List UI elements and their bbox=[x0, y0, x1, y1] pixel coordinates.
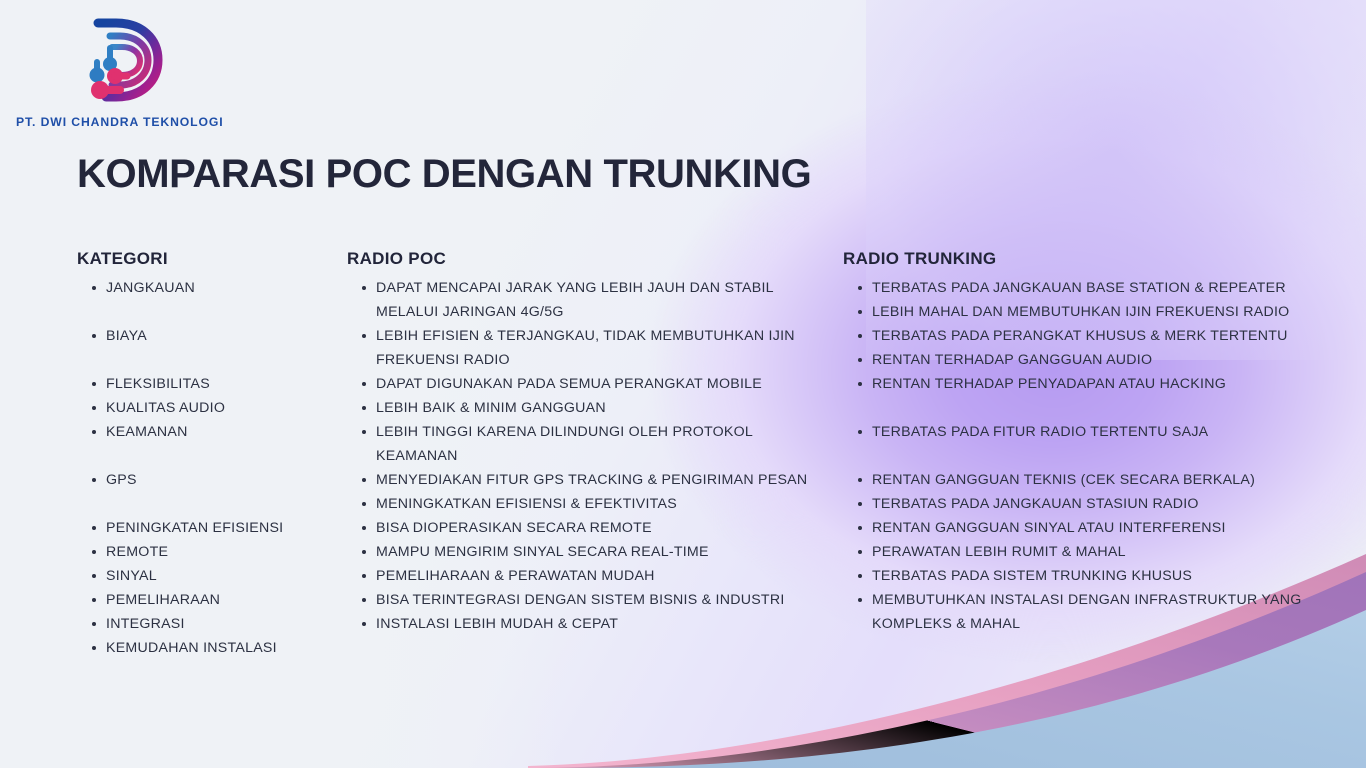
list-item: KEAMANAN bbox=[77, 420, 339, 444]
list-item: RENTAN GANGGUAN SINYAL ATAU INTERFERENSI bbox=[843, 516, 1313, 540]
list-radio-poc: DAPAT MENCAPAI JARAK YANG LEBIH JAUH DAN… bbox=[347, 276, 817, 636]
list-radio-trunking: TERBATAS PADA JANGKAUAN BASE STATION & R… bbox=[843, 276, 1313, 636]
list-item: MEMBUTUHKAN INSTALASI DENGAN INFRASTRUKT… bbox=[843, 588, 1313, 636]
list-item: GPS bbox=[77, 468, 339, 492]
list-item: DAPAT DIGUNAKAN PADA SEMUA PERANGKAT MOB… bbox=[347, 372, 817, 396]
logo-node-blue-lower bbox=[90, 68, 105, 83]
list-item: PEMELIHARAAN bbox=[77, 588, 339, 612]
list-item: MENYEDIAKAN FITUR GPS TRACKING & PENGIRI… bbox=[347, 468, 817, 492]
page-title: KOMPARASI POC DENGAN TRUNKING bbox=[77, 148, 811, 200]
list-item: PENINGKATAN EFISIENSI bbox=[77, 516, 339, 540]
column-radio-poc: RADIO POC DAPAT MENCAPAI JARAK YANG LEBI… bbox=[347, 248, 817, 636]
list-item: LEBIH TINGGI KARENA DILINDUNGI OLEH PROT… bbox=[347, 420, 817, 468]
list-item: REMOTE bbox=[77, 540, 339, 564]
list-item: PEMELIHARAAN & PERAWATAN MUDAH bbox=[347, 564, 817, 588]
list-item: TERBATAS PADA PERANGKAT KHUSUS & MERK TE… bbox=[843, 324, 1313, 348]
list-item: KEMUDAHAN INSTALASI bbox=[77, 636, 339, 660]
column-heading-radio-poc: RADIO POC bbox=[347, 248, 817, 270]
list-item: PERAWATAN LEBIH RUMIT & MAHAL bbox=[843, 540, 1313, 564]
list-item: SINYAL bbox=[77, 564, 339, 588]
list-item: MAMPU MENGIRIM SINYAL SECARA REAL-TIME bbox=[347, 540, 817, 564]
column-heading-kategori: KATEGORI bbox=[77, 248, 339, 270]
list-item: RENTAN TERHADAP GANGGUAN AUDIO bbox=[843, 348, 1313, 372]
list-item: JANGKAUAN bbox=[77, 276, 339, 300]
brand-logo-block: PT. DWI CHANDRA TEKNOLOGI bbox=[16, 14, 226, 129]
list-item: TERBATAS PADA SISTEM TRUNKING KHUSUS bbox=[843, 564, 1313, 588]
list-item: LEBIH BAIK & MINIM GANGGUAN bbox=[347, 396, 817, 420]
list-item: RENTAN TERHADAP PENYADAPAN ATAU HACKING bbox=[843, 372, 1313, 396]
company-name: PT. DWI CHANDRA TEKNOLOGI bbox=[16, 115, 226, 129]
list-item: BIAYA bbox=[77, 324, 339, 348]
list-item: TERBATAS PADA JANGKAUAN STASIUN RADIO bbox=[843, 492, 1313, 516]
list-spacer bbox=[77, 348, 339, 372]
column-radio-trunking: RADIO TRUNKING TERBATAS PADA JANGKAUAN B… bbox=[843, 248, 1313, 636]
list-item: KUALITAS AUDIO bbox=[77, 396, 339, 420]
column-kategori: KATEGORI JANGKAUANBIAYAFLEKSIBILITASKUAL… bbox=[77, 248, 339, 660]
list-item: RENTAN GANGGUAN TEKNIS (CEK SECARA BERKA… bbox=[843, 468, 1313, 492]
list-item: INTEGRASI bbox=[77, 612, 339, 636]
list-item: DAPAT MENCAPAI JARAK YANG LEBIH JAUH DAN… bbox=[347, 276, 817, 324]
letter-d-network-logo-icon bbox=[72, 14, 168, 106]
list-spacer bbox=[843, 396, 1313, 420]
list-spacer bbox=[77, 492, 339, 516]
list-item: TERBATAS PADA FITUR RADIO TERTENTU SAJA bbox=[843, 420, 1313, 444]
list-spacer bbox=[77, 300, 339, 324]
list-item: FLEKSIBILITAS bbox=[77, 372, 339, 396]
list-spacer bbox=[77, 444, 339, 468]
list-kategori: JANGKAUANBIAYAFLEKSIBILITASKUALITAS AUDI… bbox=[77, 276, 339, 660]
list-item: INSTALASI LEBIH MUDAH & CEPAT bbox=[347, 612, 817, 636]
list-item: MENINGKATKAN EFISIENSI & EFEKTIVITAS bbox=[347, 492, 817, 516]
list-item: LEBIH MAHAL DAN MEMBUTUHKAN IJIN FREKUEN… bbox=[843, 300, 1313, 324]
slide-canvas: PT. DWI CHANDRA TEKNOLOGI KOMPARASI POC … bbox=[0, 0, 1366, 768]
list-item: TERBATAS PADA JANGKAUAN BASE STATION & R… bbox=[843, 276, 1313, 300]
column-heading-radio-trunking: RADIO TRUNKING bbox=[843, 248, 1313, 270]
list-spacer bbox=[843, 444, 1313, 468]
list-item: BISA DIOPERASIKAN SECARA REMOTE bbox=[347, 516, 817, 540]
list-item: LEBIH EFISIEN & TERJANGKAU, TIDAK MEMBUT… bbox=[347, 324, 817, 372]
list-item: BISA TERINTEGRASI DENGAN SISTEM BISNIS &… bbox=[347, 588, 817, 612]
